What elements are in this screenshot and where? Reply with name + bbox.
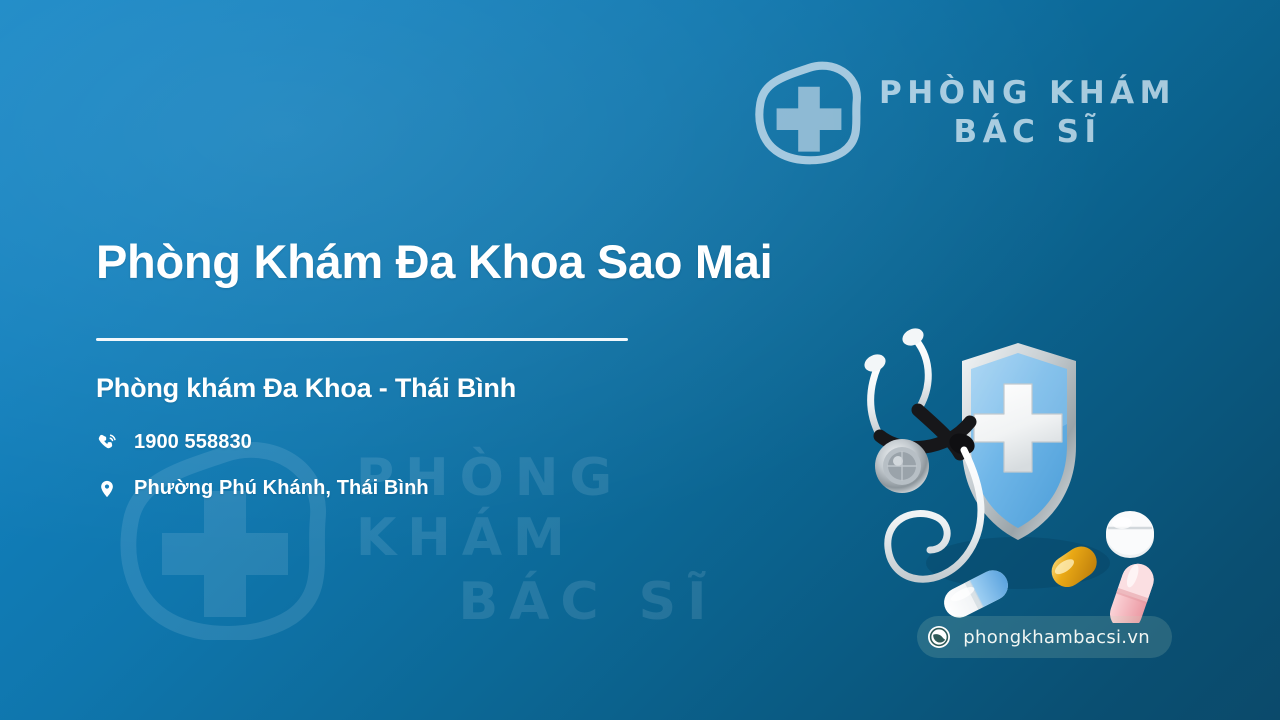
white-tablet-pill [1106, 511, 1154, 558]
page-subtitle: Phòng khám Đa Khoa - Thái Bình [96, 373, 856, 404]
contact-address-row[interactable]: Phường Phú Khánh, Thái Bình [96, 477, 856, 501]
contact-phone-label: 1900 558830 [134, 431, 252, 454]
pink-white-capsule [1106, 559, 1158, 623]
map-pin-icon [96, 477, 118, 501]
logo-line2: BÁC SĨ [953, 114, 1101, 150]
contact-phone-row[interactable]: 1900 558830 [96, 431, 856, 455]
medical-cross-blob-icon [755, 58, 863, 166]
phone-icon [96, 431, 118, 455]
watermark-line2: BÁC SĨ [459, 572, 718, 632]
website-url-label: phongkhambacsi.vn [963, 627, 1150, 648]
contact-info-list: 1900 558830 Phường Phú Khánh, Thái Bình [96, 431, 856, 501]
clinic-banner: PHÒNG KHÁM BÁC SĨ PHÒNG KHÁM BÁC SĨ Phòn… [0, 0, 1280, 720]
contact-address-label: Phường Phú Khánh, Thái Bình [134, 477, 429, 500]
logo-line1: PHÒNG KHÁM [879, 75, 1176, 111]
brand-logo: PHÒNG KHÁM BÁC SĨ [755, 58, 1176, 166]
page-title: Phòng Khám Đa Khoa Sao Mai [96, 236, 856, 289]
medical-shield-stethoscope-pills [840, 318, 1180, 623]
globe-icon [927, 625, 951, 649]
website-badge[interactable]: phongkhambacsi.vn [917, 616, 1172, 658]
banner-content: Phòng Khám Đa Khoa Sao Mai Phòng khám Đa… [96, 236, 856, 501]
title-divider [96, 338, 628, 341]
